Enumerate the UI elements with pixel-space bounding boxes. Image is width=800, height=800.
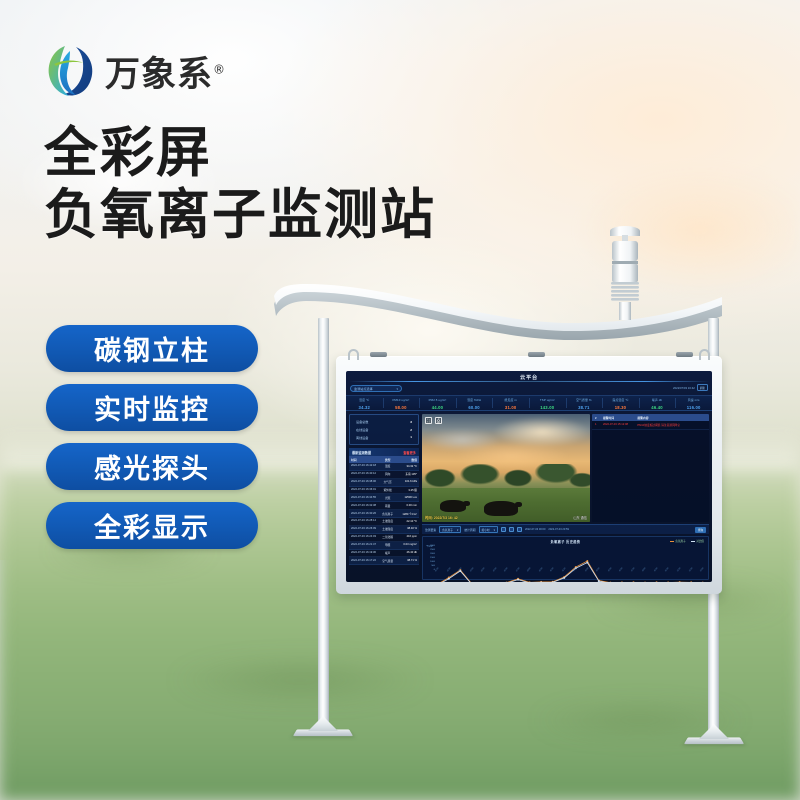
data-point <box>667 581 669 582</box>
station-select[interactable]: 监测站点选择 ▾ <box>350 385 402 392</box>
data-table-header: 最新监测数据 查看更多 <box>349 448 419 456</box>
data-table-columns: 时间类型数值 <box>349 456 419 463</box>
metric-4: 能见度 m31.00 <box>492 396 529 410</box>
chart-x-axis: 00:0001:0002:0003:0004:0005:0006:0007:00… <box>435 571 705 577</box>
table-row[interactable]: 2022-07-03 16:32:38雨量0.00 mm <box>349 502 419 510</box>
stat-value: 2 <box>410 428 412 432</box>
table-row[interactable]: 2022-07-03 16:28:14土壤温度22.10 ℃ <box>349 518 419 526</box>
cattle <box>440 500 466 512</box>
table-row[interactable]: 2022-07-03 16:19:30噪声46.40 db <box>349 550 419 558</box>
table-row[interactable]: 2022-07-03 16:40:12风向东南 135° <box>349 471 419 479</box>
cell-type: 紫外线 <box>379 488 397 492</box>
view-more-link[interactable]: 查看更多 <box>403 450 416 455</box>
chevron-down-icon: ▾ <box>396 387 398 391</box>
data-point <box>690 581 692 582</box>
device-stats-panel: 设备总数3在线设备2离线设备1 <box>349 414 419 445</box>
video-toolbar: ⛶ ⎙ <box>425 417 442 424</box>
period-select[interactable]: 按小时 ▾ <box>479 526 498 534</box>
cell-type: 负氧离子 <box>379 512 397 516</box>
snapshot-icon[interactable]: ⎙ <box>435 417 442 424</box>
metric-3: 湿度 %RH60.00 <box>456 396 493 410</box>
chart-plot-area: 个/cm³ 300025002000150010005000 00:0001:0… <box>426 545 705 577</box>
alarm-cell-content: PM10浓度超过阈值 请注意通风降尘 <box>637 423 706 427</box>
stat-label: 设备总数 <box>356 419 368 424</box>
table-row[interactable]: 2022-07-03 16:38:06大气压101.6 kPa <box>349 479 419 487</box>
display-enclosure: 云平台 监测站点选择 ▾ 2022/07/03 16:42 刷新 温度 ℃34.… <box>336 356 722 594</box>
metric-value: 143.00 <box>529 405 566 410</box>
cell-type: 大气压 <box>379 480 397 484</box>
table-row[interactable]: 2022-07-03 16:30:26负氧离子1280 个/cm³ <box>349 510 419 518</box>
view-toggle-line-icon[interactable] <box>509 527 514 532</box>
data-point <box>632 581 634 582</box>
carbon-steel-post-left <box>318 318 329 728</box>
cell-time: 2022-07-03 16:26:09 <box>351 527 379 531</box>
cell-time: 2022-07-03 16:28:14 <box>351 519 379 523</box>
y-tick-1: 2500 <box>426 549 435 551</box>
data-point <box>448 578 450 580</box>
stat-row-2: 离线设备1 <box>356 434 412 442</box>
post-base-right <box>686 726 742 746</box>
base-gusset <box>699 724 729 739</box>
metric-1: PM10 ug/m³58.00 <box>383 396 420 410</box>
table-row[interactable]: 2022-07-03 16:34:55光照12530 Lux <box>349 494 419 502</box>
metric-label: 露点温度 ℃ <box>602 398 639 402</box>
data-point <box>656 581 658 582</box>
date-from[interactable]: 2022-07-03 00:00 <box>525 528 545 531</box>
cell-time: 2022-07-03 16:42:18 <box>351 464 379 468</box>
view-toggle-bar-icon[interactable] <box>501 527 506 532</box>
mount-hook <box>699 349 710 360</box>
station-select-value: 监测站点选择 <box>354 386 373 391</box>
fullscreen-icon[interactable]: ⛶ <box>425 417 432 424</box>
frame-tab <box>676 352 693 357</box>
chart-title: 负氧离子 历史趋势 <box>426 539 705 544</box>
cell-type: 甲醛 <box>379 543 397 547</box>
refresh-button[interactable]: 刷新 <box>697 384 708 391</box>
data-point <box>621 581 623 582</box>
table-row[interactable]: 2022-07-03 16:36:01紫外线3.25 级 <box>349 487 419 495</box>
legend-label: 对比值 <box>696 539 704 543</box>
metric-label: 能见度 m <box>492 398 529 402</box>
data-table-title: 最新监测数据 <box>352 450 371 455</box>
stat-label: 在线设备 <box>356 427 368 432</box>
query-button[interactable]: 查询 <box>695 527 706 533</box>
alarm-column-1: 报警时间 <box>603 416 637 420</box>
legend-item-0[interactable]: 负氧离子 <box>670 539 686 543</box>
metric-label: 空气质量 % <box>566 398 603 402</box>
led-display-screen: 云平台 监测站点选择 ▾ 2022/07/03 16:42 刷新 温度 ℃34.… <box>346 371 712 582</box>
ultrasonic-weather-sensor <box>602 222 648 320</box>
frame-tab <box>370 352 387 357</box>
cell-time: 2022-07-03 16:19:30 <box>351 551 379 555</box>
cell-value: 416 ppm <box>397 535 417 539</box>
cell-time: 2022-07-03 16:24:03 <box>351 535 379 539</box>
screen-clock: 2022/07/03 16:42 刷新 <box>673 384 708 391</box>
clock-text: 2022/07/03 16:42 <box>673 386 695 390</box>
y-tick-3: 1500 <box>426 557 435 559</box>
alarm-panel: #报警时间报警内容 12022-07-03 15:12:08PM10浓度超过阈值… <box>592 414 709 522</box>
data-table-body: 2022-07-03 16:42:18温度34.32 ℃2022-07-03 1… <box>349 463 419 565</box>
cell-type: 温度 <box>379 464 397 468</box>
cell-value: 1280 个/cm³ <box>397 512 417 516</box>
metric-label: PM10 ug/m³ <box>383 398 420 402</box>
metric-value: 60.00 <box>456 405 493 410</box>
column-header-2: 数值 <box>397 458 417 462</box>
element-select-value: 负氧离子 <box>442 528 453 532</box>
export-icon[interactable] <box>517 527 522 532</box>
cell-value: 12530 Lux <box>397 496 417 500</box>
cell-type: 风向 <box>379 472 397 476</box>
video-and-alarm-row: ⛶ ⎙ 时间: 2022/7/3 16: 42 山东 通信 #报警时间报警内容 … <box>422 414 709 522</box>
chevron-down-icon: ▾ <box>457 528 458 532</box>
date-to[interactable]: 2022-07-03 23:59 <box>548 528 568 531</box>
metric-value: 31.00 <box>492 405 529 410</box>
alarm-column-2: 报警内容 <box>637 416 706 420</box>
legend-label: 负氧离子 <box>675 539 685 543</box>
cell-value: 3.25 级 <box>397 488 417 492</box>
column-header-1: 类型 <box>379 458 397 462</box>
cell-value: 38.71 % <box>397 559 417 563</box>
cell-time: 2022-07-03 16:38:06 <box>351 480 379 484</box>
cell-value: 22.10 ℃ <box>397 519 417 523</box>
metric-value: 46.40 <box>639 405 676 410</box>
chevron-down-icon: ▾ <box>494 528 495 532</box>
alarm-row[interactable]: 12022-07-03 15:12:08PM10浓度超过阈值 请注意通风降尘 <box>592 421 709 430</box>
element-select[interactable]: 负氧离子 ▾ <box>439 526 461 534</box>
metric-label: TSP ug/m³ <box>529 398 566 402</box>
metric-label: 温度 ℃ <box>346 398 383 402</box>
metric-value: 44.00 <box>419 405 456 410</box>
control-label-right: 统计周期 <box>464 528 475 532</box>
cattle <box>484 501 518 516</box>
table-row[interactable]: 2022-07-03 16:21:47甲醛0.03 mg/m³ <box>349 542 419 550</box>
screen-body: 设备总数3在线设备2离线设备1 最新监测数据 查看更多 时间类型数值 2022-… <box>346 412 712 582</box>
table-row[interactable]: 2022-07-03 16:42:18温度34.32 ℃ <box>349 463 419 471</box>
cell-time: 2022-07-03 16:30:26 <box>351 512 379 516</box>
stat-label: 离线设备 <box>356 435 368 440</box>
cell-type: 土壤湿度 <box>379 527 397 531</box>
alarm-cell-index: 1 <box>595 423 603 427</box>
video-timestamp: 时间: 2022/7/3 16: 42 <box>425 515 458 520</box>
cell-type: 光照 <box>379 496 397 500</box>
cell-value: 东南 135° <box>397 472 417 476</box>
screen-title-divider <box>349 381 709 382</box>
stat-row-1: 在线设备2 <box>356 426 412 434</box>
screen-title: 云平台 <box>346 374 712 381</box>
y-tick-0: 3000 <box>426 545 435 547</box>
metric-value: 34.32 <box>346 405 383 410</box>
y-tick-5: 500 <box>426 565 435 567</box>
alarm-column-0: # <box>595 416 603 420</box>
cell-value: 0.00 mm <box>397 504 417 508</box>
frame-tab <box>528 352 545 357</box>
cell-time: 2022-07-03 16:34:55 <box>351 496 379 500</box>
data-point <box>563 577 565 579</box>
chart-legend: 负氧离子对比值 <box>670 539 704 543</box>
alarm-cell-time: 2022-07-03 15:12:08 <box>603 423 637 427</box>
y-tick-2: 2000 <box>426 553 435 555</box>
metric-value: 58.00 <box>383 405 420 410</box>
wave-canopy <box>272 282 724 344</box>
metric-0: 温度 ℃34.32 <box>346 396 383 410</box>
base-gusset <box>308 716 338 731</box>
metric-6: 空气质量 %38.71 <box>566 396 603 410</box>
data-point <box>517 579 519 581</box>
stat-row-0: 设备总数3 <box>356 418 412 426</box>
metric-2: PM2.5 ug/m³44.00 <box>419 396 456 410</box>
screen-sidebar: 设备总数3在线设备2离线设备1 最新监测数据 查看更多 时间类型数值 2022-… <box>346 412 421 582</box>
metric-9: 风速 m/s116.00 <box>675 396 712 410</box>
chart-control-bar: 监测要素 负氧离子 ▾ 统计周期 按小时 ▾ 2022-0 <box>422 524 709 534</box>
table-row[interactable]: 2022-07-03 16:24:03二氧化碳416 ppm <box>349 534 419 542</box>
camera-feed[interactable]: ⛶ ⎙ 时间: 2022/7/3 16: 42 山东 通信 <box>422 414 590 522</box>
screen-main-panel: ⛶ ⎙ 时间: 2022/7/3 16: 42 山东 通信 #报警时间报警内容 … <box>421 412 712 582</box>
table-row[interactable]: 2022-07-03 16:26:09土壤湿度38.40 % <box>349 526 419 534</box>
cell-time: 2022-07-03 16:17:22 <box>351 559 379 563</box>
cell-type: 土壤温度 <box>379 519 397 523</box>
cell-time: 2022-07-03 16:21:47 <box>351 543 379 547</box>
metric-8: 噪声 db46.40 <box>639 396 676 410</box>
metric-value: 38.71 <box>566 405 603 410</box>
metric-label: PM2.5 ug/m³ <box>419 398 456 402</box>
alarm-body: 12022-07-03 15:12:08PM10浓度超过阈值 请注意通风降尘 <box>592 421 709 430</box>
metric-label: 湿度 %RH <box>456 398 493 402</box>
alarm-columns: #报警时间报警内容 <box>592 414 709 421</box>
metric-value: 116.00 <box>675 405 712 410</box>
metric-5: TSP ug/m³143.00 <box>529 396 566 410</box>
period-select-value: 按小时 <box>482 528 490 532</box>
x-tick-23: 23:00 <box>700 567 708 574</box>
metric-label: 风速 m/s <box>675 398 712 402</box>
post-base-left <box>295 718 351 738</box>
control-label-left: 监测要素 <box>425 528 436 532</box>
data-point <box>586 562 588 564</box>
cell-time: 2022-07-03 16:40:12 <box>351 472 379 476</box>
metric-strip: 温度 ℃34.32PM10 ug/m³58.00PM2.5 ug/m³44.00… <box>346 395 712 411</box>
cell-value: 46.40 db <box>397 551 417 555</box>
data-point <box>529 581 531 582</box>
trend-chart-panel: 负氧离子 历史趋势 负氧离子对比值 个/cm³ 3000250020001500… <box>422 536 709 580</box>
metric-value: 18.30 <box>602 405 639 410</box>
metric-label: 噪声 db <box>639 398 676 402</box>
legend-item-1[interactable]: 对比值 <box>691 539 704 543</box>
cell-time: 2022-07-03 16:32:38 <box>351 504 379 508</box>
cell-time: 2022-07-03 16:36:01 <box>351 488 379 492</box>
cell-value: 38.40 % <box>397 527 417 531</box>
y-tick-4: 1000 <box>426 561 435 563</box>
cell-value: 101.6 kPa <box>397 480 417 484</box>
cell-value: 34.32 ℃ <box>397 464 417 468</box>
video-location: 山东 通信 <box>573 515 587 520</box>
monitoring-station: 云平台 监测站点选择 ▾ 2022/07/03 16:42 刷新 温度 ℃34.… <box>0 0 800 800</box>
cell-type: 空气质量 <box>379 559 397 563</box>
stat-value: 1 <box>410 435 412 439</box>
cell-type: 雨量 <box>379 504 397 508</box>
cell-value: 0.03 mg/m³ <box>397 543 417 547</box>
chart-y-axis: 300025002000150010005000 <box>426 545 435 571</box>
stat-value: 3 <box>410 420 412 424</box>
metric-7: 露点温度 ℃18.30 <box>602 396 639 410</box>
screen-top-bar: 云平台 监测站点选择 ▾ 2022/07/03 16:42 刷新 <box>346 371 712 386</box>
cell-type: 二氧化碳 <box>379 535 397 539</box>
column-header-0: 时间 <box>351 458 379 462</box>
table-row[interactable]: 2022-07-03 16:17:22空气质量38.71 % <box>349 557 419 565</box>
cell-type: 噪声 <box>379 551 397 555</box>
mount-hook <box>348 349 359 360</box>
